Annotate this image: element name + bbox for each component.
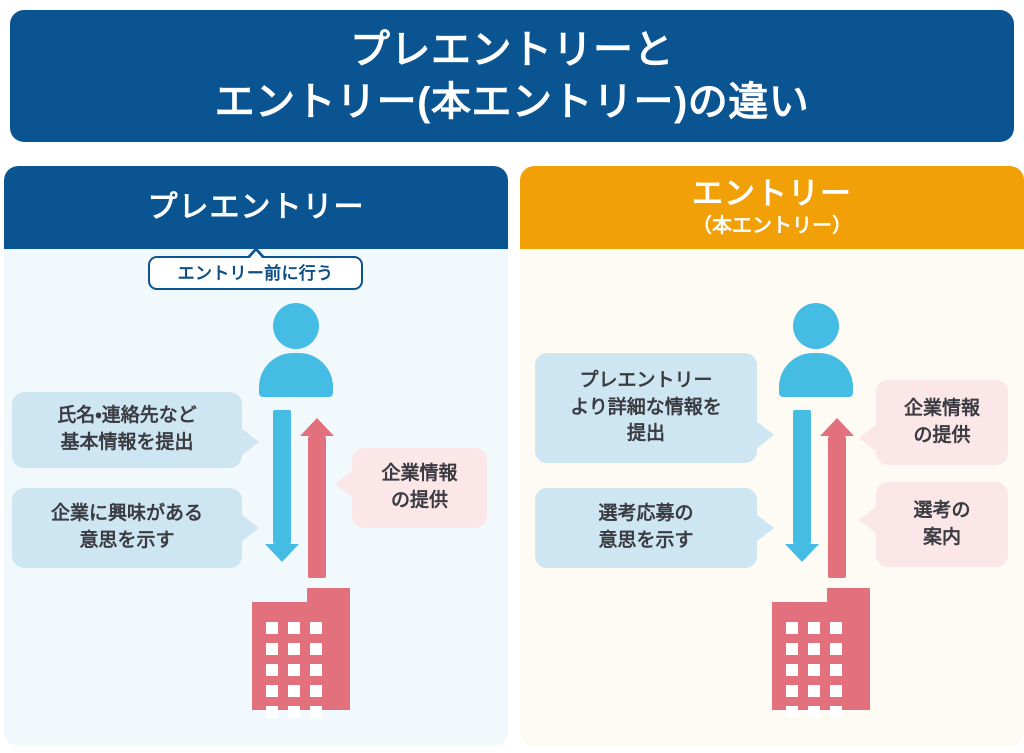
bubble-company-entry-1: 企業情報 の提供: [876, 380, 1008, 465]
person-head-shape: [273, 303, 319, 349]
arrow-head: [785, 544, 819, 562]
person-body-shape: [779, 353, 853, 397]
arrow-down-icon-pre-entry: [265, 410, 299, 562]
person-icon: [258, 303, 334, 397]
person-body-shape: [259, 353, 333, 397]
bubble-text: 企業情報 の提供: [904, 396, 980, 450]
bubble-tail-right: [241, 514, 259, 542]
bubble-text: 選考応募の 意思を示す: [598, 501, 693, 555]
building-icon: [252, 588, 350, 710]
person-head-shape: [793, 303, 839, 349]
building-icon: [772, 588, 870, 710]
arrow-down-icon-entry: [785, 410, 819, 562]
bubble-company-entry-2: 選考の 案内: [876, 482, 1008, 567]
panel-header-entry: エントリー （本エントリー）: [520, 166, 1024, 249]
infographic-page: プレエントリーと エントリー(本エントリー)の違い プレエントリー エントリー前…: [0, 0, 1024, 753]
bubble-student-entry-1: プレエントリー より詳細な情報を 提出: [535, 353, 757, 463]
building-windows: [786, 622, 854, 718]
arrow-shaft: [793, 410, 811, 544]
arrow-up-icon-entry: [820, 418, 854, 578]
page-title-banner: プレエントリーと エントリー(本エントリー)の違い: [10, 10, 1014, 142]
panel-title-entry: エントリー: [692, 177, 852, 211]
panel-subtitle-entry: （本エントリー）: [692, 214, 852, 238]
bubble-text: 氏名・連絡先など 基本情報を提出: [57, 403, 196, 457]
panel-title-pre-entry: プレエントリー: [148, 191, 365, 224]
callout-text: エントリー前に行う: [178, 265, 334, 282]
bubble-tail-left: [859, 506, 877, 534]
building-windows: [266, 622, 334, 718]
arrow-shaft: [273, 410, 291, 544]
callout-pre-entry-timing: エントリー前に行う: [148, 256, 363, 290]
page-title: プレエントリーと エントリー(本エントリー)の違い: [215, 24, 810, 128]
arrow-head: [265, 544, 299, 562]
arrow-shaft: [308, 436, 326, 578]
callout-tail-inner: [248, 251, 264, 260]
bubble-text: 企業に興味がある 意思を示す: [51, 501, 203, 555]
bubble-text: 企業情報 の提供: [381, 461, 457, 515]
arrow-up-icon-pre-entry: [300, 418, 334, 578]
bubble-text: 選考の 案内: [913, 498, 970, 552]
person-icon: [778, 303, 854, 397]
bubble-tail-left: [859, 424, 877, 452]
bubble-tail-right: [756, 421, 774, 449]
bubble-student-entry-2: 選考応募の 意思を示す: [535, 488, 757, 568]
panel-header-pre-entry: プレエントリー: [4, 166, 508, 249]
bubble-student-pre-entry-1: 氏名・連絡先など 基本情報を提出: [12, 392, 242, 468]
arrow-head: [820, 418, 854, 436]
bubble-student-pre-entry-2: 企業に興味がある 意思を示す: [12, 488, 242, 568]
arrow-shaft: [828, 436, 846, 578]
bubble-text: プレエントリー より詳細な情報を 提出: [570, 368, 722, 449]
bubble-tail-left: [335, 470, 353, 498]
bubble-tail-right: [241, 428, 259, 456]
bubble-tail-right: [756, 514, 774, 542]
bubble-company-pre-entry-1: 企業情報 の提供: [352, 448, 487, 528]
arrow-head: [300, 418, 334, 436]
